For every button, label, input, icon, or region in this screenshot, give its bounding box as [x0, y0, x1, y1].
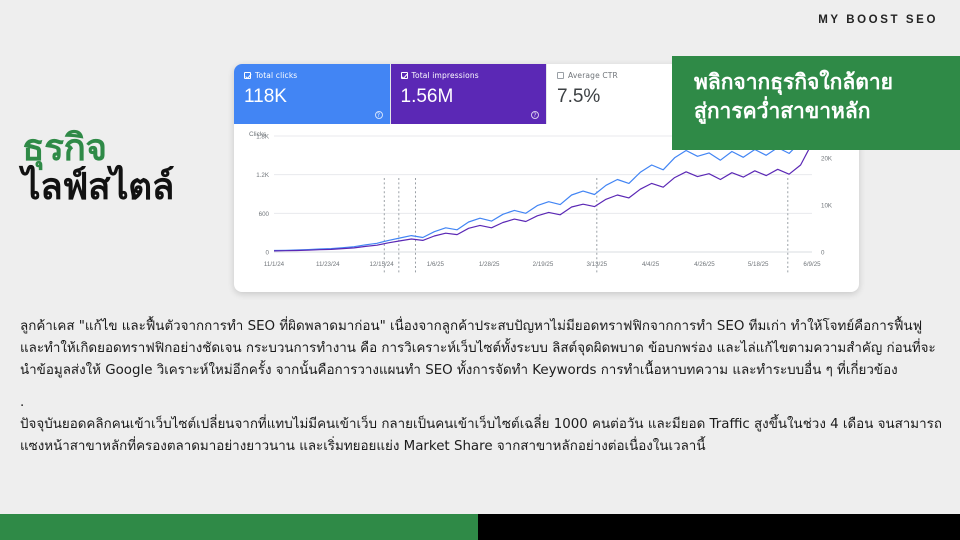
highlight-banner-line-2: สู่การคว่ำสาขาหลัก	[694, 97, 960, 126]
brand-logo-text: MY BOOST SEO	[818, 14, 938, 26]
svg-text:5/18/25: 5/18/25	[748, 261, 769, 268]
svg-text:1/28/25: 1/28/25	[479, 261, 500, 268]
highlight-banner: พลิกจากธุรกิจใกล้ตาย สู่การคว่ำสาขาหลัก	[672, 56, 960, 150]
metric-label: Average CTR	[568, 72, 618, 80]
highlight-banner-line-1: พลิกจากธุรกิจใกล้ตาย	[694, 68, 960, 97]
metric-card-label-row: Total clicks	[244, 72, 380, 80]
page-header: MY BOOST SEO	[0, 0, 960, 44]
svg-text:1/6/25: 1/6/25	[427, 261, 445, 268]
metric-card-total-clicks[interactable]: Total clicks 118K ?	[234, 64, 391, 124]
metric-card-label-row: Total impressions	[401, 72, 537, 80]
checkbox-unchecked-icon[interactable]	[557, 72, 564, 79]
page-title: ธุรกิจ ไลฟ์สไตล์	[22, 128, 174, 206]
svg-text:4/4/25: 4/4/25	[642, 261, 660, 268]
metric-label: Total impressions	[412, 72, 479, 80]
svg-text:11/1/24: 11/1/24	[264, 261, 285, 268]
svg-text:0: 0	[821, 250, 825, 257]
metric-value: 1.56M	[401, 87, 537, 106]
checkbox-checked-icon[interactable]	[401, 72, 408, 79]
svg-text:0: 0	[266, 250, 270, 257]
body-paragraph-1: ลูกค้าเคส "แก้ไข และฟื้นตัวจากการทำ SEO …	[20, 316, 944, 382]
svg-text:4/26/25: 4/26/25	[694, 261, 715, 268]
svg-text:12/15/24: 12/15/24	[370, 261, 395, 268]
metric-card-total-impressions[interactable]: Total impressions 1.56M ?	[391, 64, 548, 124]
metric-label: Total clicks	[255, 72, 297, 80]
checkbox-checked-icon[interactable]	[244, 72, 251, 79]
svg-text:6/9/25: 6/9/25	[803, 261, 821, 268]
bottom-bar-black-segment	[478, 514, 960, 540]
chart-left-axis-title: Clicks	[249, 131, 266, 138]
page-title-line-1: ธุรกิจ	[22, 128, 174, 167]
svg-text:600: 600	[259, 211, 270, 218]
body-paragraph-2: .	[20, 392, 944, 414]
svg-text:11/23/24: 11/23/24	[316, 261, 340, 268]
svg-text:1.2K: 1.2K	[256, 172, 270, 179]
help-icon[interactable]: ?	[375, 111, 383, 119]
page-title-line-2: ไลฟ์สไตล์	[22, 167, 174, 206]
bottom-bar	[0, 514, 960, 540]
svg-text:2/19/25: 2/19/25	[533, 261, 554, 268]
svg-text:20K: 20K	[821, 156, 833, 163]
body-paragraph-3: ปัจจุบันยอดคลิกคนเข้าเว็บไซต์เปลี่ยนจากท…	[20, 414, 944, 458]
svg-text:10K: 10K	[821, 203, 833, 210]
metric-value: 118K	[244, 87, 380, 106]
help-icon[interactable]: ?	[531, 111, 539, 119]
body-copy: ลูกค้าเคส "แก้ไข และฟื้นตัวจากการทำ SEO …	[20, 316, 944, 458]
bottom-bar-green-segment	[0, 514, 478, 540]
